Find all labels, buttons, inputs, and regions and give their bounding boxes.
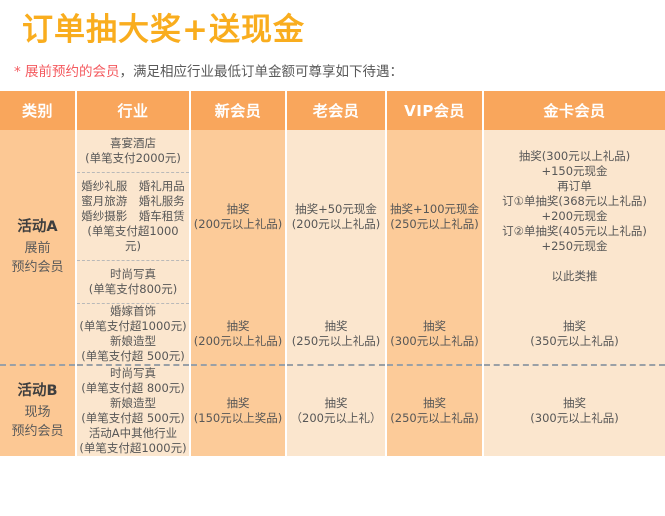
category-sub1-b: 现场 xyxy=(24,405,50,420)
category-sub2-b: 预约会员 xyxy=(11,424,63,439)
page-subtitle: * 展前预约的会员，满足相应行业最低订单金额可尊享如下待遇： xyxy=(14,62,403,82)
column-header-category: 类别 xyxy=(0,91,76,130)
column-header-industry: 行业 xyxy=(76,91,190,130)
column-header-old: 老会员 xyxy=(286,91,386,130)
benefit-old-a1: 抽奖+50元现金(200元以上礼品) xyxy=(286,130,386,304)
benefit-new-a1: 抽奖(200元以上礼品) xyxy=(190,130,286,304)
subtitle-rest: ，满足相应行业最低订单金额可尊享如下待遇： xyxy=(120,64,404,80)
category-cell-b: 活动B 现场 预约会员 xyxy=(0,365,76,456)
industry-item: 婚纱礼服 婚礼用品蜜月旅游 婚礼服务婚纱摄影 婚车租赁(单笔支付超1000元) xyxy=(77,173,189,261)
benefits-table: 类别 行业 新会员 老会员 VIP会员 金卡会员 活动A 展前 预约会员 喜宴酒… xyxy=(0,91,665,456)
benefit-vip-a1: 抽奖+100元现金(250元以上礼品) xyxy=(386,130,483,304)
subtitle-highlight: * 展前预约的会员 xyxy=(14,64,120,80)
column-header-vip: VIP会员 xyxy=(386,91,483,130)
benefit-old-b1: 抽奖（200元以上礼） xyxy=(286,365,386,456)
promo-table-page: 订单抽大奖+送现金 * 展前预约的会员，满足相应行业最低订单金额可尊享如下待遇：… xyxy=(0,0,665,516)
benefit-new-b1: 抽奖(150元以上奖品) xyxy=(190,365,286,456)
benefit-gold-a1: 抽奖(300元以上礼品)+150元现金再订单订①单抽奖(368元以上礼品)+20… xyxy=(483,130,665,304)
benefit-vip-a2: 抽奖(300元以上礼品) xyxy=(386,304,483,366)
industry-cell-a2: 婚嫁首饰(单笔支付超1000元)新娘造型(单笔支付超 500元) xyxy=(76,304,190,366)
industry-item: 时尚写真(单笔支付800元) xyxy=(77,261,189,303)
benefit-old-a2: 抽奖(250元以上礼品) xyxy=(286,304,386,366)
page-title: 订单抽大奖+送现金 xyxy=(22,10,305,50)
benefit-gold-b1: 抽奖(300元以上礼品) xyxy=(483,365,665,456)
category-sub2-a: 预约会员 xyxy=(11,260,63,275)
industry-cell-b1: 时尚写真(单笔支付超 800元)新娘造型(单笔支付超 500元)活动A中其他行业… xyxy=(76,365,190,456)
industry-item: 喜宴酒店(单笔支付2000元) xyxy=(77,130,189,173)
table-row: 活动B 现场 预约会员 时尚写真(单笔支付超 800元)新娘造型(单笔支付超 5… xyxy=(0,365,665,456)
table-header-row: 类别 行业 新会员 老会员 VIP会员 金卡会员 xyxy=(0,91,665,130)
column-header-new: 新会员 xyxy=(190,91,286,130)
benefit-vip-b1: 抽奖(250元以上礼品) xyxy=(386,365,483,456)
benefit-new-a2: 抽奖(200元以上礼品) xyxy=(190,304,286,366)
category-title-a: 活动A xyxy=(0,218,75,237)
category-sub1-a: 展前 xyxy=(24,241,50,256)
category-title-b: 活动B xyxy=(0,382,75,401)
column-header-gold: 金卡会员 xyxy=(483,91,665,130)
category-cell-a: 活动A 展前 预约会员 xyxy=(0,130,76,365)
benefit-gold-a2: 抽奖(350元以上礼品) xyxy=(483,304,665,366)
table-row: 活动A 展前 预约会员 喜宴酒店(单笔支付2000元) 婚纱礼服 婚礼用品蜜月旅… xyxy=(0,130,665,304)
table-row: 婚嫁首饰(单笔支付超1000元)新娘造型(单笔支付超 500元) 抽奖(200元… xyxy=(0,304,665,366)
industry-cell-a1: 喜宴酒店(单笔支付2000元) 婚纱礼服 婚礼用品蜜月旅游 婚礼服务婚纱摄影 婚… xyxy=(76,130,190,304)
